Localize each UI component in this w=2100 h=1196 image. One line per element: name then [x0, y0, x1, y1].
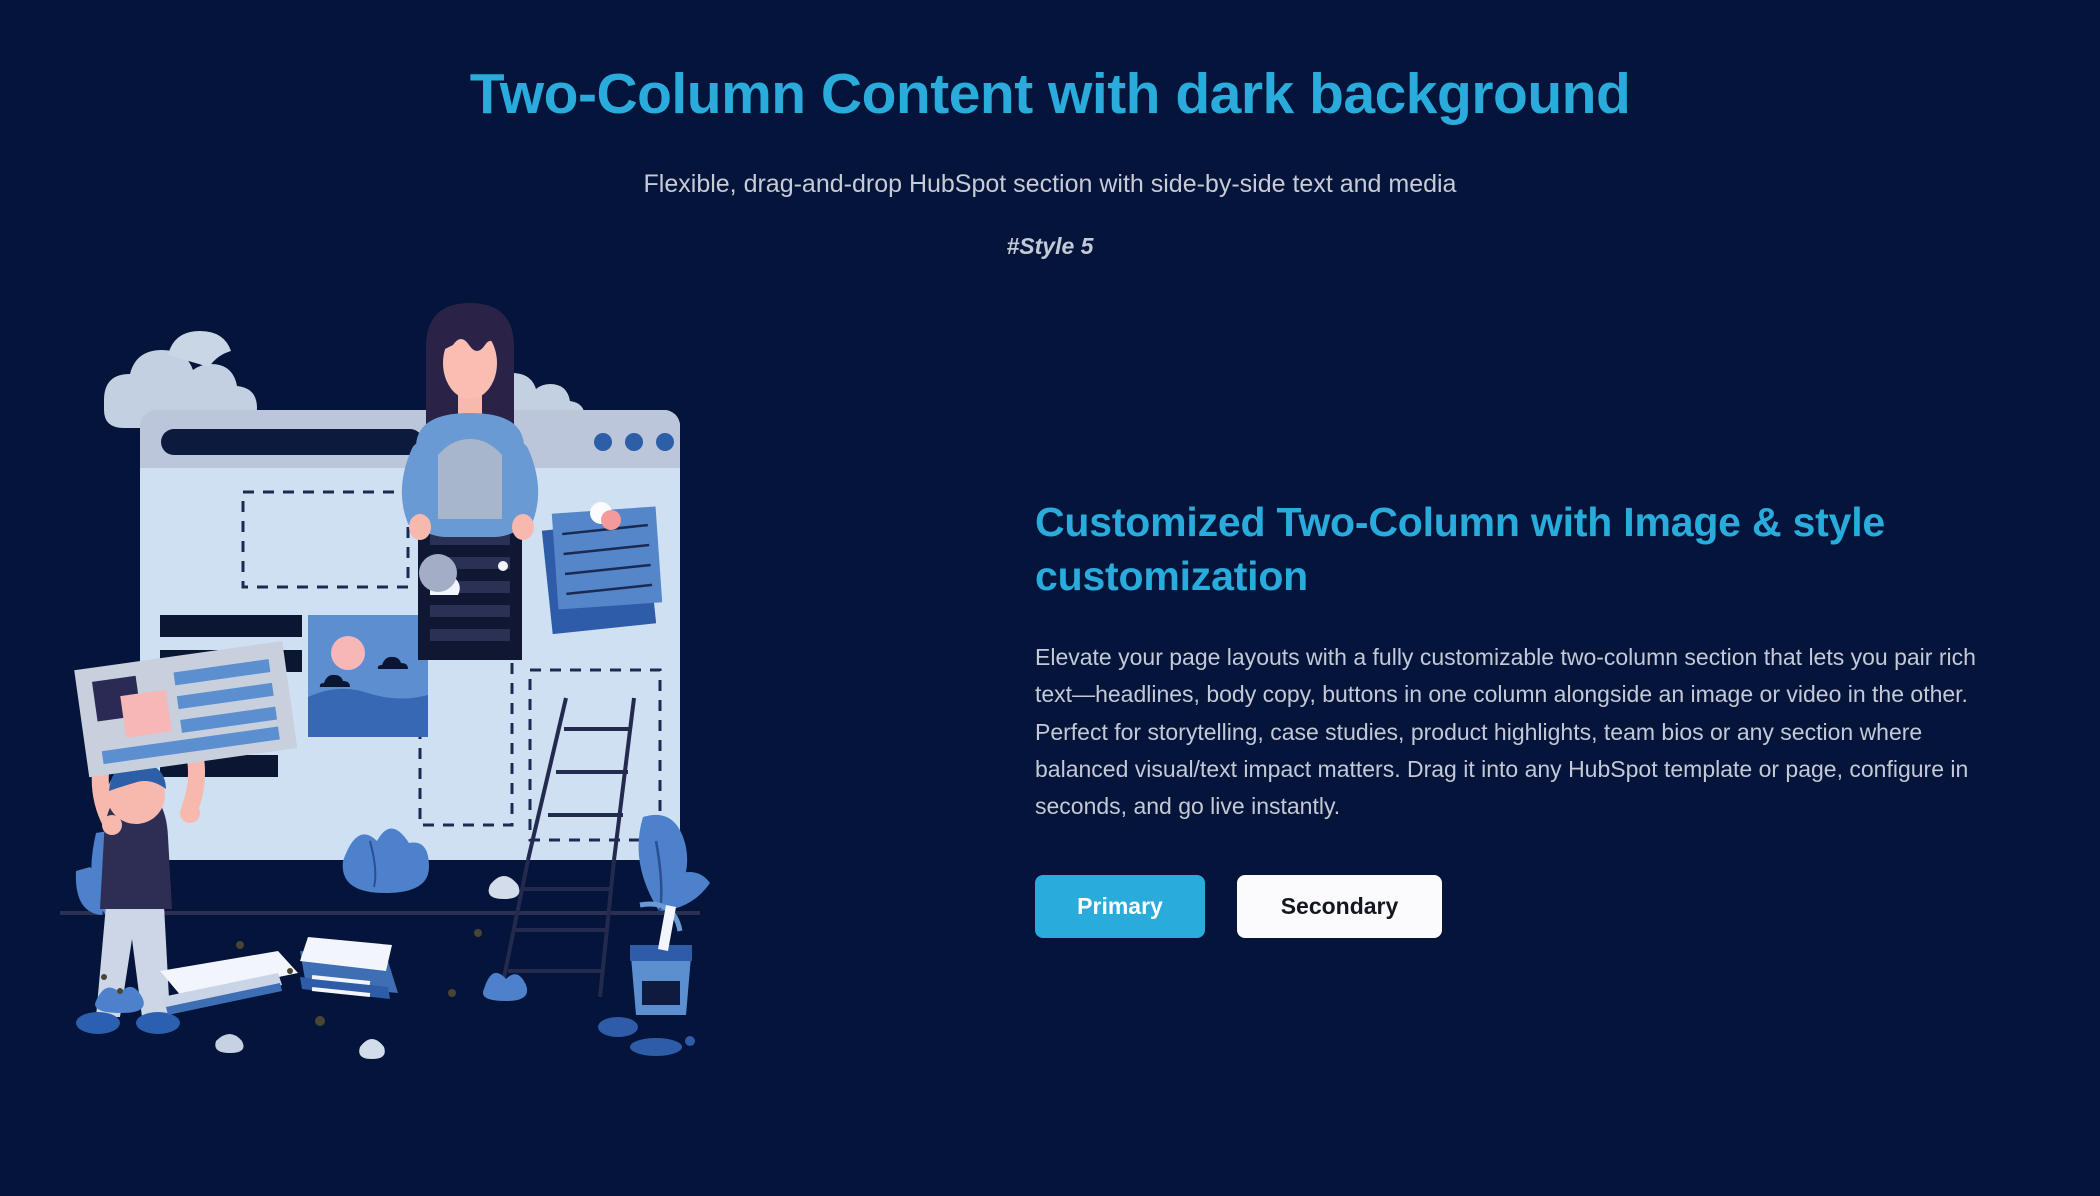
- page-title: Two-Column Content with dark background: [0, 62, 2100, 128]
- paper-stack-left: [160, 951, 298, 1015]
- page-subtitle: Flexible, drag-and-drop HubSpot section …: [0, 170, 2100, 199]
- paper-stack-center: [300, 937, 398, 999]
- section-body-text: Elevate your page layouts with a fully c…: [1035, 639, 2000, 825]
- text-column: Customized Two-Column with Image & style…: [1035, 355, 2035, 938]
- paint-bucket: [630, 904, 692, 1015]
- page-root: Two-Column Content with dark background …: [0, 0, 2100, 1196]
- section-heading: Customized Two-Column with Image & style…: [1035, 495, 1965, 603]
- browser-url-bar: [161, 429, 423, 455]
- primary-button[interactable]: Primary: [1035, 875, 1205, 938]
- illustration-svg: [60, 285, 940, 1095]
- paint-splatter: [598, 1017, 695, 1056]
- secondary-button[interactable]: Secondary: [1237, 875, 1442, 938]
- two-column-section: Customized Two-Column with Image & style…: [0, 355, 2100, 1115]
- browser-dots-icon: [594, 433, 674, 451]
- button-row: Primary Secondary: [1035, 875, 2035, 938]
- sticky-note-card: [542, 502, 662, 634]
- landscape-image-card: [308, 615, 428, 737]
- page-header: Two-Column Content with dark background …: [0, 0, 2100, 260]
- style-tag: #Style 5: [0, 233, 2100, 260]
- plant-leaf-right: [639, 815, 710, 911]
- illustration-image: [60, 285, 940, 1095]
- media-column: [60, 355, 940, 1095]
